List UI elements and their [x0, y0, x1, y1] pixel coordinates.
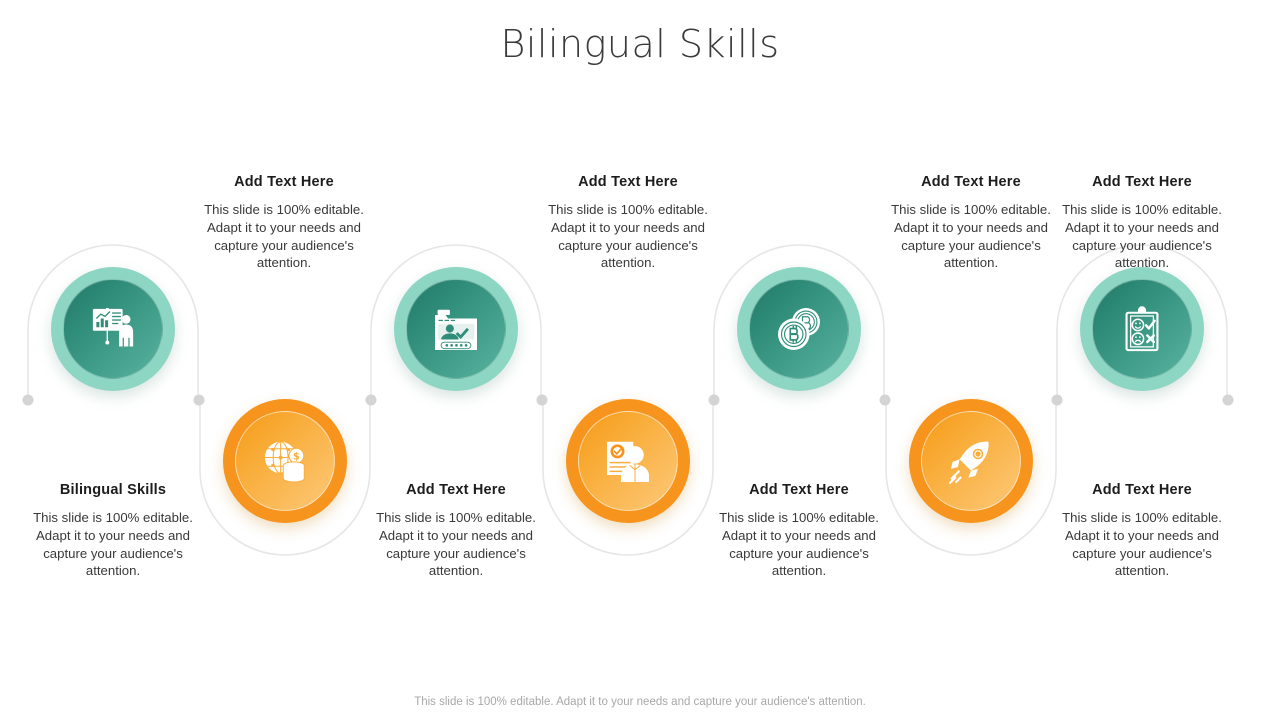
node-inner-3	[406, 279, 506, 379]
node-inner-6	[921, 411, 1021, 511]
node-inner-2: $	[235, 411, 335, 511]
slide-footer-note: This slide is 100% editable. Adapt it to…	[0, 694, 1280, 710]
node-circle-7[interactable]	[1080, 267, 1204, 391]
text-block-top-2: Add Text Here This slide is 100% editabl…	[535, 173, 721, 272]
node-circle-4[interactable]	[566, 399, 690, 523]
text-body-top-2: This slide is 100% editable. Adapt it to…	[535, 201, 721, 272]
node-inner-7	[1092, 279, 1192, 379]
text-heading-bottom-4: Add Text Here	[1049, 481, 1235, 499]
node-circle-1[interactable]	[51, 267, 175, 391]
presentation-chart-icon	[85, 301, 141, 357]
bitcoin-coins-icon	[771, 301, 827, 357]
globe-money-icon: $	[257, 433, 313, 489]
text-body-bottom-3: This slide is 100% editable. Adapt it to…	[706, 509, 892, 580]
node-circle-5[interactable]	[737, 267, 861, 391]
text-heading-top-2: Add Text Here	[535, 173, 721, 191]
text-body-top-4: This slide is 100% editable. Adapt it to…	[1049, 201, 1235, 272]
rocket-icon	[943, 433, 999, 489]
node-circle-6[interactable]	[909, 399, 1033, 523]
node-circle-3[interactable]	[394, 267, 518, 391]
text-heading-bottom-1: Bilingual Skills	[20, 481, 206, 499]
feedback-clipboard-icon	[1116, 303, 1168, 355]
text-block-bottom-2: Add Text Here This slide is 100% editabl…	[363, 481, 549, 580]
node-inner-4	[578, 411, 678, 511]
text-body-bottom-2: This slide is 100% editable. Adapt it to…	[363, 509, 549, 580]
svg-text:$: $	[293, 452, 300, 463]
text-body-bottom-1: This slide is 100% editable. Adapt it to…	[20, 509, 206, 580]
text-block-bottom-3: Add Text Here This slide is 100% editabl…	[706, 481, 892, 580]
node-stage: $	[0, 0, 1280, 720]
certificate-person-icon	[600, 433, 656, 489]
text-block-bottom-4: Add Text Here This slide is 100% editabl…	[1049, 481, 1235, 580]
text-block-top-1: Add Text Here This slide is 100% editabl…	[191, 173, 377, 272]
text-block-top-3: Add Text Here This slide is 100% editabl…	[878, 173, 1064, 272]
node-inner-5	[749, 279, 849, 379]
text-heading-top-3: Add Text Here	[878, 173, 1064, 191]
text-heading-top-1: Add Text Here	[191, 173, 377, 191]
text-block-bottom-1: Bilingual Skills This slide is 100% edit…	[20, 481, 206, 580]
text-heading-bottom-2: Add Text Here	[363, 481, 549, 499]
user-profile-window-icon	[428, 301, 484, 357]
text-body-top-1: This slide is 100% editable. Adapt it to…	[191, 201, 377, 272]
text-block-top-4: Add Text Here This slide is 100% editabl…	[1049, 173, 1235, 272]
node-circle-2[interactable]: $	[223, 399, 347, 523]
text-body-top-3: This slide is 100% editable. Adapt it to…	[878, 201, 1064, 272]
text-heading-top-4: Add Text Here	[1049, 173, 1235, 191]
node-inner-1	[63, 279, 163, 379]
text-heading-bottom-3: Add Text Here	[706, 481, 892, 499]
text-body-bottom-4: This slide is 100% editable. Adapt it to…	[1049, 509, 1235, 580]
